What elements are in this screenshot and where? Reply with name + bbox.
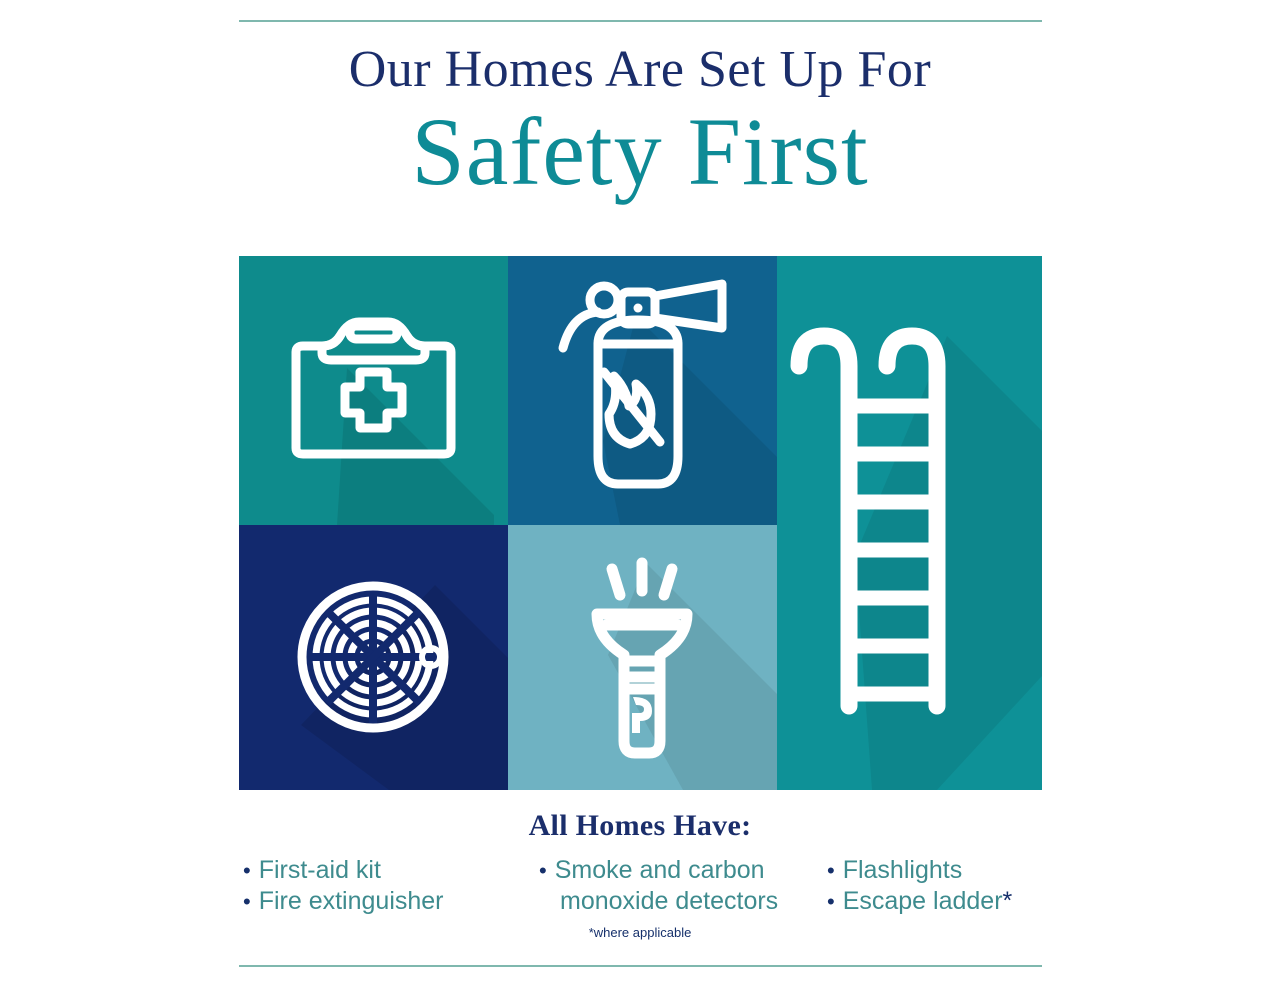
list-item-label: Smoke and carbon [555, 855, 765, 886]
list-item: • Escape ladder* [827, 886, 1042, 917]
list-item-label: First-aid kit [259, 855, 381, 886]
list-item: • Flashlights [827, 855, 1042, 886]
title-block: Our Homes Are Set Up For Safety First [0, 40, 1280, 204]
bullet-dot-icon: • [827, 886, 835, 917]
list-item-label: Flashlights [843, 855, 963, 886]
tile-flashlight [508, 525, 777, 790]
bullet-dot-icon: • [243, 855, 251, 886]
smoke-detector-icon [239, 525, 508, 790]
tile-escape-ladder [777, 256, 1042, 790]
checklist-column-1: • First-aid kit • Fire extinguisher [239, 855, 511, 917]
bottom-divider-rule [239, 965, 1042, 967]
first-aid-kit-icon [239, 256, 508, 525]
tile-fire-extinguisher [508, 256, 777, 525]
bullet-dot-icon: • [243, 886, 251, 917]
list-item: • Fire extinguisher [243, 886, 511, 917]
bullet-dot-icon: • [827, 855, 835, 886]
list-item: • Smoke and carbon [539, 855, 781, 886]
footnote: *where applicable [0, 924, 1280, 942]
tile-first-aid-kit [239, 256, 508, 525]
flashlight-icon [508, 525, 777, 790]
top-divider-rule [239, 20, 1042, 22]
ladder-icon [777, 256, 1042, 790]
list-item-label: Escape ladder* [843, 886, 1013, 917]
safety-infographic: Our Homes Are Set Up For Safety First [0, 0, 1280, 989]
checklist-columns: • First-aid kit • Fire extinguisher • Sm… [239, 855, 1042, 917]
asterisk-marker: * [1003, 887, 1013, 915]
checklist-column-3: • Flashlights • Escape ladder* [781, 855, 1042, 917]
list-item-label: Fire extinguisher [259, 886, 444, 917]
bullet-dot-icon: • [539, 855, 547, 886]
fire-extinguisher-icon [508, 256, 777, 525]
icon-grid [239, 256, 1042, 790]
page-title-line-2: Safety First [0, 100, 1280, 204]
footer-heading: All Homes Have: [0, 808, 1280, 844]
tile-smoke-detector [239, 525, 508, 790]
page-title-line-1: Our Homes Are Set Up For [0, 40, 1280, 100]
checklist-column-2: • Smoke and carbon monoxide detectors [511, 855, 781, 917]
list-item: • First-aid kit [243, 855, 511, 886]
list-item-label-continued: monoxide detectors [539, 886, 781, 917]
